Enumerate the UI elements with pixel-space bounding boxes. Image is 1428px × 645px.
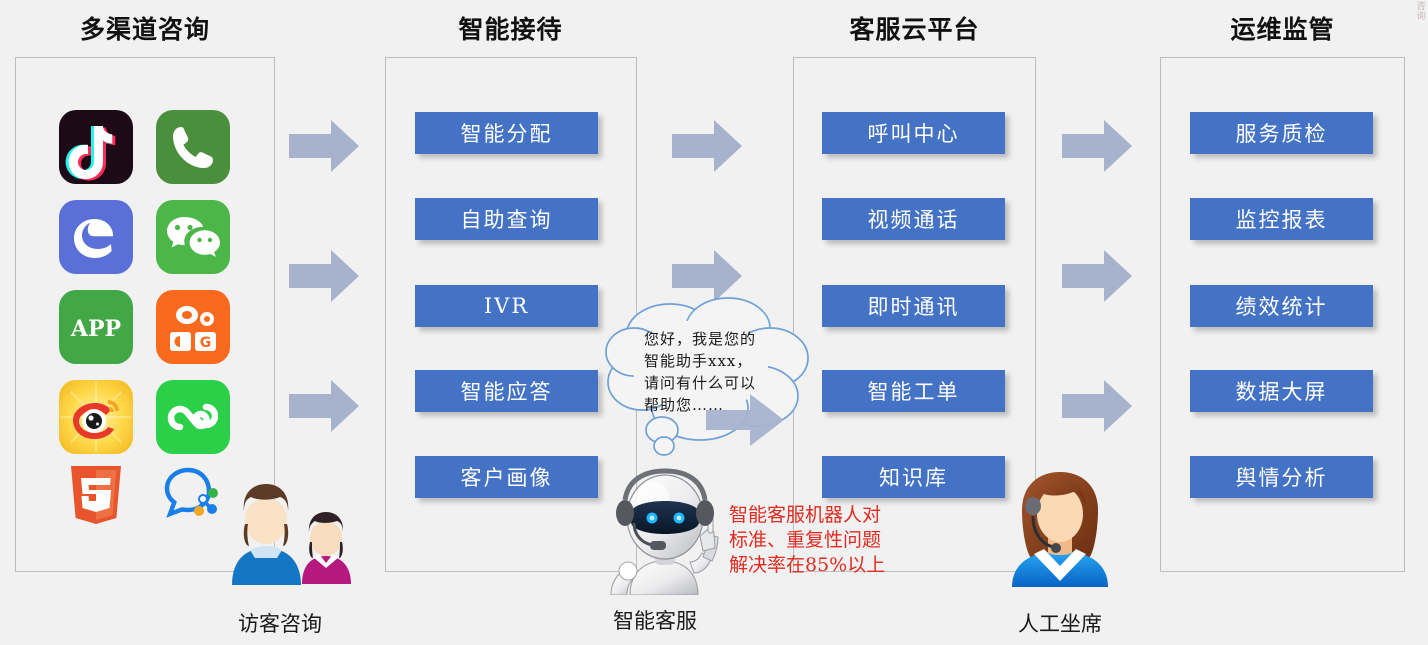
- flow-arrow: [289, 250, 359, 307]
- visitors-figure: [224, 466, 359, 591]
- flow-arrow: [1062, 380, 1132, 437]
- feature-box-ops-3[interactable]: 数据大屏: [1190, 370, 1373, 412]
- bottom-label-visitors: 访客咨询: [195, 608, 365, 638]
- feature-box-reception-2[interactable]: IVR: [415, 285, 598, 327]
- flow-arrow: [289, 380, 359, 437]
- feature-box-platform-4[interactable]: 知识库: [822, 456, 1005, 498]
- speech-line-0: 您好，我是您的: [644, 328, 756, 350]
- feature-box-platform-3[interactable]: 智能工单: [822, 370, 1005, 412]
- edge-icon[interactable]: [59, 200, 133, 279]
- douyin-icon[interactable]: [59, 110, 133, 189]
- phone-icon[interactable]: [156, 110, 230, 189]
- feature-box-platform-0[interactable]: 呼叫中心: [822, 112, 1005, 154]
- feature-box-platform-2[interactable]: 即时通讯: [822, 285, 1005, 327]
- column-title-ops: 运维监管: [1160, 10, 1405, 46]
- app-icon[interactable]: APP: [59, 290, 133, 369]
- column-title-reception: 智能接待: [383, 10, 638, 46]
- feature-box-ops-2[interactable]: 绩效统计: [1190, 285, 1373, 327]
- feature-box-ops-4[interactable]: 舆情分析: [1190, 456, 1373, 498]
- flow-arrow: [1062, 250, 1132, 307]
- diagram-canvas: 多渠道咨询 智能接待 客服云平台 运维监管: [0, 0, 1428, 645]
- robot-annotation-line-2: 解决率在85%以上: [729, 553, 885, 578]
- robot-annotation: 智能客服机器人对 标准、重复性问题 解决率在85%以上: [729, 503, 885, 578]
- column-title-platform: 客服云平台: [793, 10, 1036, 46]
- kuaishou-icon[interactable]: G: [156, 290, 230, 369]
- wechat-icon[interactable]: [156, 200, 230, 279]
- robot-figure: [598, 455, 738, 600]
- watermark-text: 咨询: [1414, 2, 1428, 22]
- svg-text:APP: APP: [70, 316, 121, 342]
- miniprogram-icon[interactable]: [156, 380, 230, 459]
- bottom-label-robot: 智能客服: [570, 605, 740, 635]
- speech-line-3: 帮助您……: [644, 394, 756, 416]
- column-title-channels: 多渠道咨询: [15, 10, 275, 46]
- robot-annotation-line-0: 智能客服机器人对: [729, 503, 885, 528]
- bottom-label-agent: 人工坐席: [975, 608, 1145, 638]
- flow-arrow: [672, 120, 742, 177]
- feature-box-reception-1[interactable]: 自助查询: [415, 198, 598, 240]
- robot-annotation-line-1: 标准、重复性问题: [729, 528, 885, 553]
- feature-box-ops-1[interactable]: 监控报表: [1190, 198, 1373, 240]
- speech-bubble-text: 您好，我是您的 智能助手xxx， 请问有什么可以 帮助您……: [644, 328, 756, 416]
- speech-line-2: 请问有什么可以: [644, 372, 756, 394]
- feature-box-reception-0[interactable]: 智能分配: [415, 112, 598, 154]
- html5-icon[interactable]: [59, 458, 133, 537]
- feature-box-ops-0[interactable]: 服务质检: [1190, 112, 1373, 154]
- speech-line-1: 智能助手xxx，: [644, 350, 756, 372]
- feature-box-reception-3[interactable]: 智能应答: [415, 370, 598, 412]
- feature-box-platform-1[interactable]: 视频通话: [822, 198, 1005, 240]
- agent-figure: [1000, 462, 1120, 592]
- flow-arrow: [1062, 120, 1132, 177]
- feature-box-reception-4[interactable]: 客户画像: [415, 456, 598, 498]
- weibo-icon[interactable]: [59, 380, 133, 459]
- qq-icon[interactable]: [156, 458, 230, 537]
- flow-arrow: [289, 120, 359, 177]
- svg-text:G: G: [200, 335, 212, 351]
